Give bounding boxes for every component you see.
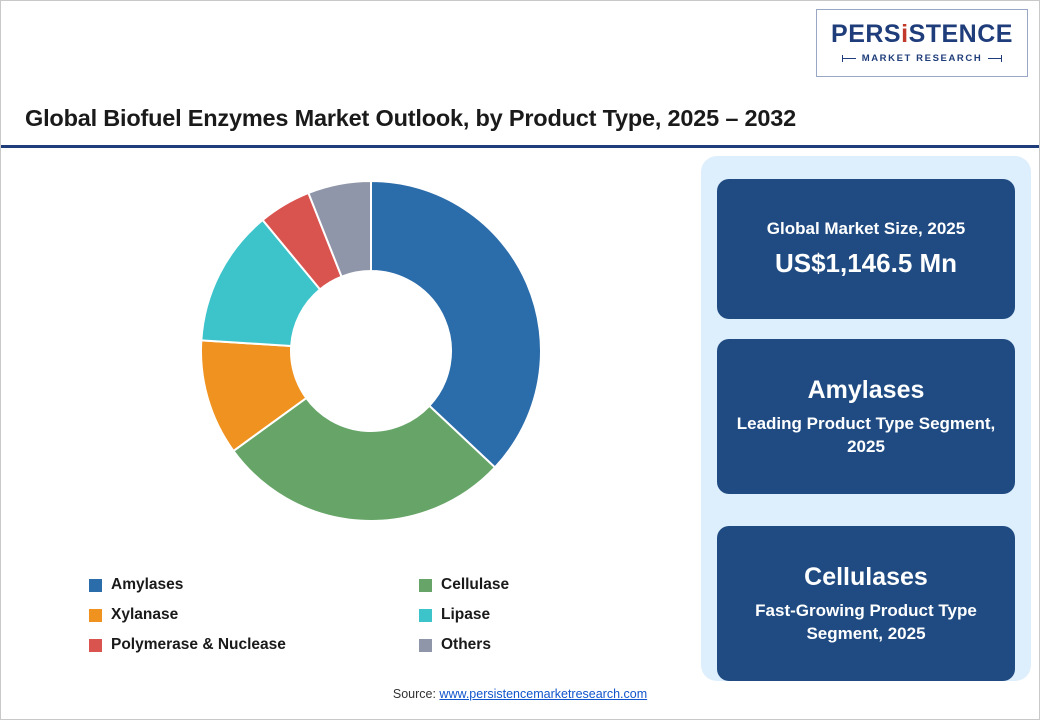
- logo-wordmark: PERSiSTENCE: [831, 22, 1013, 47]
- legend-label: Cellulase: [441, 576, 509, 594]
- source-link[interactable]: www.persistencemarketresearch.com: [439, 687, 647, 701]
- source-prefix: Source:: [393, 687, 440, 701]
- donut-slice: [371, 181, 541, 467]
- source-note: Source: www.persistencemarketresearch.co…: [1, 687, 1039, 701]
- logo-right-rule-icon: [988, 58, 1002, 59]
- kpi-market-size-value: US$1,146.5 Mn: [775, 248, 957, 279]
- chart-area: [21, 156, 691, 566]
- legend-item[interactable]: Others: [419, 636, 649, 654]
- logo-tagline: MARKET RESEARCH: [862, 53, 983, 64]
- legend-label: Xylanase: [111, 606, 178, 624]
- donut-chart: [196, 176, 546, 526]
- company-logo: PERSiSTENCE MARKET RESEARCH: [816, 9, 1028, 77]
- kpi-card-fast-growing-segment: Cellulases Fast-Growing Product Type Seg…: [717, 526, 1015, 681]
- legend-item[interactable]: Lipase: [419, 606, 649, 624]
- infographic-page: PERSiSTENCE MARKET RESEARCH Global Biofu…: [0, 0, 1040, 720]
- title-divider: [1, 145, 1039, 148]
- donut-chart-svg: [196, 176, 546, 526]
- legend-swatch-icon: [419, 639, 432, 652]
- legend-swatch-icon: [419, 609, 432, 622]
- legend-item[interactable]: Xylanase: [89, 606, 419, 624]
- kpi-market-size-label: Global Market Size, 2025: [767, 218, 965, 240]
- legend-label: Polymerase & Nuclease: [111, 636, 286, 654]
- kpi-leading-segment-heading: Amylases: [808, 375, 925, 405]
- logo-word-accent: i: [901, 20, 908, 48]
- logo-word-part1: PERS: [831, 20, 901, 48]
- legend-item[interactable]: Polymerase & Nuclease: [89, 636, 419, 654]
- kpi-leading-segment-description: Leading Product Type Segment, 2025: [729, 413, 1003, 459]
- logo-left-rule-icon: [842, 58, 856, 59]
- logo-tagline-wrap: MARKET RESEARCH: [842, 53, 1003, 64]
- legend-item[interactable]: Cellulase: [419, 576, 649, 594]
- kpi-fast-growing-heading: Cellulases: [804, 562, 928, 592]
- kpi-card-market-size: Global Market Size, 2025 US$1,146.5 Mn: [717, 179, 1015, 319]
- legend-label: Lipase: [441, 606, 490, 624]
- legend-swatch-icon: [89, 609, 102, 622]
- chart-legend: AmylasesCellulaseXylanaseLipasePolymeras…: [89, 576, 649, 654]
- page-title: Global Biofuel Enzymes Market Outlook, b…: [25, 105, 796, 132]
- legend-label: Amylases: [111, 576, 183, 594]
- logo-word-part2: STENCE: [909, 20, 1013, 48]
- legend-item[interactable]: Amylases: [89, 576, 419, 594]
- kpi-card-leading-segment: Amylases Leading Product Type Segment, 2…: [717, 339, 1015, 494]
- legend-swatch-icon: [419, 579, 432, 592]
- kpi-fast-growing-description: Fast-Growing Product Type Segment, 2025: [729, 600, 1003, 646]
- legend-swatch-icon: [89, 639, 102, 652]
- legend-swatch-icon: [89, 579, 102, 592]
- legend-label: Others: [441, 636, 491, 654]
